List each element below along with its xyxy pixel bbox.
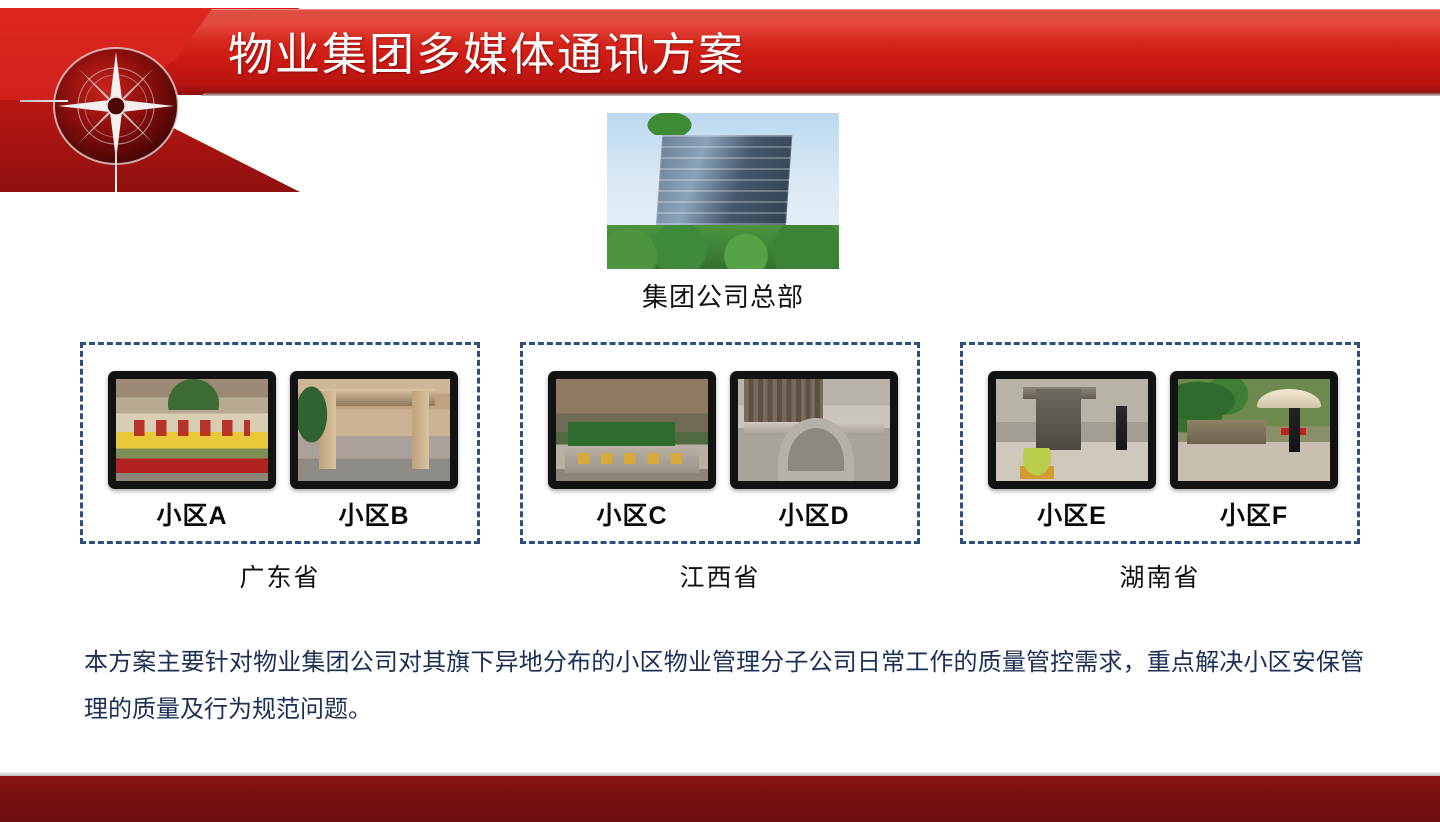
photo-art-layer xyxy=(996,379,1148,481)
page-title: 物业集团多媒体通讯方案 xyxy=(228,18,745,83)
community-label: 小区F xyxy=(1170,496,1338,532)
community-photo-frame xyxy=(108,371,276,489)
community-card[interactable]: 小区F xyxy=(1170,371,1338,532)
headquarters-photo xyxy=(607,113,839,269)
photo-sign-characters-layer xyxy=(134,420,250,436)
community-photo-f xyxy=(1178,379,1330,481)
photo-planter-layer xyxy=(1020,448,1053,479)
community-card[interactable]: 小区D xyxy=(730,371,898,532)
community-card[interactable]: 小区E xyxy=(988,371,1156,532)
photo-guard-layer xyxy=(1116,406,1127,451)
title-banner: 物业集团多媒体通讯方案 xyxy=(150,9,1440,95)
banner-bottom-edge xyxy=(150,92,1440,96)
community-photo-frame xyxy=(988,371,1156,489)
community-photo-frame xyxy=(548,371,716,489)
community-photo-d xyxy=(738,379,890,481)
photo-nameplate-layer xyxy=(565,446,699,473)
photo-art-layer xyxy=(556,379,708,481)
group-dashed-border: 小区C 小区D xyxy=(520,342,920,544)
community-photo-frame xyxy=(290,371,458,489)
photo-hedge-layer xyxy=(568,422,674,446)
community-label: 小区D xyxy=(730,496,898,532)
photo-tree-layer xyxy=(298,385,328,444)
province-group-jiangxi: 小区C 小区D xyxy=(520,342,920,544)
compass-hline-decor xyxy=(20,100,68,102)
community-photo-frame xyxy=(1170,371,1338,489)
body-paragraph: 本方案主要针对物业集团公司对其旗下异地分布的小区物业管理分子公司日常工作的质量管… xyxy=(84,640,1364,734)
photo-wall-layer xyxy=(1187,420,1266,444)
province-label: 江西省 xyxy=(520,558,920,594)
photo-art-layer xyxy=(1178,379,1330,481)
community-label: 小区C xyxy=(548,496,716,532)
photo-guard-layer xyxy=(1289,408,1300,453)
compass-stem-decor xyxy=(115,150,117,196)
photo-gate-pillar-right-layer xyxy=(412,391,429,469)
province-label: 广东省 xyxy=(80,558,480,594)
province-group-guangdong: 小区A xyxy=(80,342,480,544)
province-label: 湖南省 xyxy=(960,558,1360,594)
community-label: 小区E xyxy=(988,496,1156,532)
community-photo-b xyxy=(298,379,450,481)
photo-art-layer xyxy=(298,379,450,481)
community-card[interactable]: 小区C xyxy=(548,371,716,532)
photo-gatepost-layer xyxy=(1036,389,1082,450)
community-photo-e xyxy=(996,379,1148,481)
community-card[interactable]: 小区A xyxy=(108,371,276,532)
photo-art-layer xyxy=(116,379,268,481)
group-thumbnails: 小区E xyxy=(963,371,1363,532)
headquarters-block: 集团公司总部 xyxy=(607,113,839,314)
headquarters-caption: 集团公司总部 xyxy=(607,277,839,314)
photo-art-layer xyxy=(738,379,890,481)
community-label: 小区A xyxy=(108,496,276,532)
photo-trees-layer xyxy=(168,379,220,410)
community-photo-a xyxy=(116,379,268,481)
photo-leaf-layer xyxy=(644,113,695,135)
group-thumbnails: 小区C 小区D xyxy=(523,371,923,532)
photo-foliage-layer xyxy=(607,225,839,269)
group-dashed-border: 小区E xyxy=(960,342,1360,544)
slide: 物业集团多媒体通讯方案 xyxy=(0,0,1440,822)
province-group-hunan: 小区E xyxy=(960,342,1360,544)
group-thumbnails: 小区A xyxy=(83,371,483,532)
slide-footer xyxy=(0,776,1440,822)
community-photo-c xyxy=(556,379,708,481)
community-photo-frame xyxy=(730,371,898,489)
community-label: 小区B xyxy=(290,496,458,532)
group-dashed-border: 小区A xyxy=(80,342,480,544)
community-card[interactable]: 小区B xyxy=(290,371,458,532)
